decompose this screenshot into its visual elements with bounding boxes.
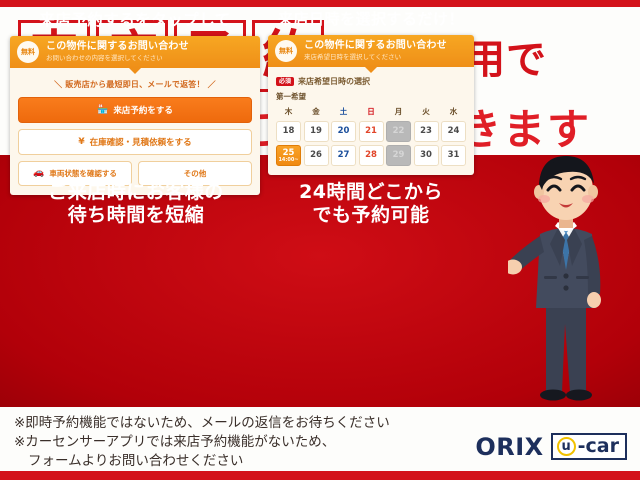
salesman-illustration (508, 148, 628, 410)
stock-quote-label: 在庫確認・見積依頼をする (90, 136, 192, 148)
calendar-card-title: この物件に関するお問い合わせ (304, 40, 467, 52)
inquiry-card-subtitle: お問い合わせの内容を選択してください (46, 54, 253, 62)
dow-fri: 金 (304, 106, 329, 118)
calendar-day[interactable]: 20 (331, 121, 356, 142)
note-line-3: フォームよりお問い合わせください (14, 452, 474, 471)
benefit-left-line2: 待ち時間を短縮 (8, 204, 264, 227)
car-icon: 🚗 (33, 169, 44, 178)
dow-tue: 火 (414, 106, 439, 118)
benefit-left: ご来店時にお客様の 待ち時間を短縮 (8, 181, 264, 227)
bottom-red-rule (0, 471, 640, 480)
right-column-title: 来店日時を選択するだけ！ (268, 8, 474, 29)
preference-label: 第一希望 (276, 91, 466, 102)
calendar-day[interactable]: 30 (414, 145, 439, 167)
inquiry-card-header: 無料 この物件に関するお問い合わせ お問い合わせの内容を選択してください (10, 36, 260, 68)
dow-sat: 土 (331, 106, 356, 118)
calendar-day[interactable]: 18 (276, 121, 301, 142)
benefit-left-line1: ご来店時にお客様の (8, 181, 264, 204)
orix-ucar-logo: ORIX u -car (475, 433, 627, 460)
calendar-day[interactable]: 26 (304, 145, 329, 167)
top-red-rule (0, 0, 640, 7)
reserve-visit-button[interactable]: 🏪 来店予約をする (18, 97, 252, 123)
stock-quote-button[interactable]: ¥ 在庫確認・見積依頼をする (18, 129, 252, 155)
inquiry-card-body: ＼ 販売店から最短即日、メールで返答！ ／ 🏪 来店予約をする ¥ 在庫確認・見… (10, 68, 260, 195)
benefit-right-line1: 24時間どこから (262, 181, 480, 204)
other-label: その他 (184, 168, 207, 179)
banner-root: 来 店 予 約 のご利用で スムーズにご案内ができます 来店予約するをタップして… (0, 0, 640, 480)
calendar-card-subtitle: 来店希望日時を選択してください (304, 53, 467, 61)
calendar-dow-row: 木 金 土 日 月 火 水 (276, 106, 466, 118)
calendar-day-selected[interactable]: 25 14:00~ (276, 145, 301, 167)
ucar-badge: u -car (551, 433, 627, 460)
calendar-day[interactable]: 23 (414, 121, 439, 142)
free-badge: 無料 (275, 40, 297, 62)
calendar-day-disabled: 29 (386, 145, 411, 167)
calendar-day[interactable]: 28 (359, 145, 384, 167)
reserve-visit-label: 来店予約をする (113, 104, 173, 116)
left-column-title: 来店予約するをタップして (10, 8, 260, 30)
promo-text: ＼ 販売店から最短即日、メールで返答！ ／ (18, 79, 252, 90)
yen-icon: ¥ (78, 138, 84, 147)
calendar-day[interactable]: 19 (304, 121, 329, 142)
calendar-day[interactable]: 24 (441, 121, 466, 142)
benefit-right: 24時間どこから でも予約可能 (262, 181, 480, 227)
inquiry-card-title: この物件に関するお問い合わせ (46, 41, 253, 53)
store-icon: 🏪 (97, 106, 108, 115)
orix-wordmark: ORIX (475, 435, 543, 459)
calendar-week-1: 18 19 20 21 22 23 24 (276, 121, 466, 142)
free-badge: 無料 (17, 41, 39, 63)
ucar-u-circle: u (557, 437, 576, 456)
left-column: 来店予約するをタップして 無料 この物件に関するお問い合わせ お問い合わせの内容… (10, 8, 260, 195)
inquiry-form-card: 無料 この物件に関するお問い合わせ お問い合わせの内容を選択してください ＼ 販… (10, 36, 260, 195)
required-label: 来店希望日時の選択 (298, 76, 370, 87)
dow-mon: 月 (386, 106, 411, 118)
calendar-week-2: 25 14:00~ 26 27 28 29 30 31 (276, 145, 466, 167)
note-line-2: ※カーセンサーアプリでは来店予約機能がないため、 (14, 433, 474, 452)
dow-thu: 木 (276, 106, 301, 118)
calendar-form-card: 無料 この物件に関するお問い合わせ 来店希望日時を選択してください 必須 来店希… (268, 35, 474, 175)
dow-wed: 水 (441, 106, 466, 118)
calendar-day[interactable]: 31 (441, 145, 466, 167)
required-badge: 必須 (276, 77, 294, 86)
dow-sun: 日 (359, 106, 384, 118)
header-notch (365, 67, 377, 73)
benefit-right-line2: でも予約可能 (262, 204, 480, 227)
calendar-day[interactable]: 21 (359, 121, 384, 142)
calendar-card-body: 必須 来店希望日時の選択 第一希望 木 金 土 日 月 火 水 18 19 20 (268, 67, 474, 175)
ucar-car-text: -car (578, 437, 619, 456)
right-column: 来店日時を選択するだけ！ 無料 この物件に関するお問い合わせ 来店希望日時を選択… (268, 8, 474, 175)
calendar-card-header: 無料 この物件に関するお問い合わせ 来店希望日時を選択してください (268, 35, 474, 67)
disclaimer-notes: ※即時予約機能ではないため、メールの返信をお待ちください ※カーセンサーアプリで… (14, 414, 474, 471)
vehicle-condition-label: 車両状態を確認する (49, 168, 117, 179)
note-line-1: ※即時予約機能ではないため、メールの返信をお待ちください (14, 414, 474, 433)
header-notch (129, 68, 141, 74)
calendar-day[interactable]: 27 (331, 145, 356, 167)
required-row: 必須 来店希望日時の選択 (276, 76, 466, 87)
calendar-day-disabled: 22 (386, 121, 411, 142)
